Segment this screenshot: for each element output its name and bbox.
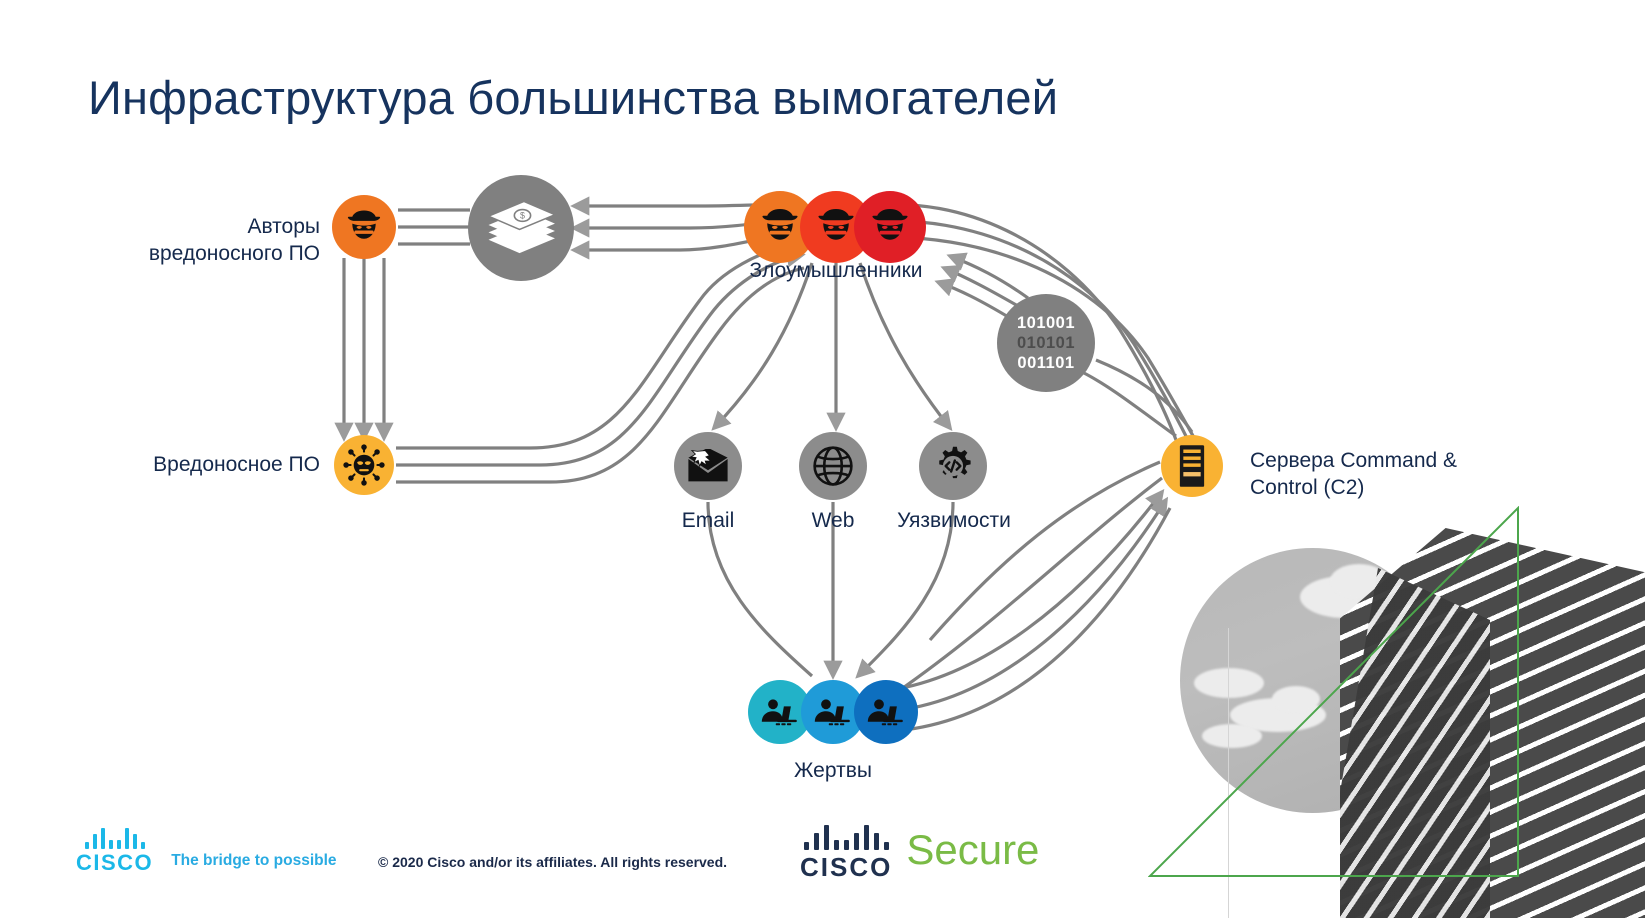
- slide-canvas: Инфраструктура большинства вымогателей: [0, 0, 1645, 918]
- user-at-computer-icon: [759, 696, 801, 728]
- node-label-malware: Вредоносное ПО: [70, 452, 320, 479]
- node-malware[interactable]: [334, 435, 394, 495]
- svg-text:$: $: [520, 210, 525, 220]
- node-attacker-3[interactable]: [854, 191, 926, 263]
- copyright-text: © 2020 Cisco and/or its affiliates. All …: [378, 854, 727, 870]
- cisco-tagline: The bridge to possible: [171, 852, 336, 874]
- binary-row-1: 101001: [1017, 313, 1075, 333]
- cisco-secure-logo: CISCO Secure: [800, 824, 1039, 880]
- node-vulnerabilities[interactable]: [919, 432, 987, 500]
- cisco-bars-mark: CISCO: [76, 825, 153, 874]
- cisco-secure-wordmark: CISCO: [800, 854, 892, 880]
- cisco-bars-icon: [85, 825, 145, 849]
- secure-label: Secure: [906, 829, 1039, 875]
- user-at-computer-icon: [812, 696, 854, 728]
- user-at-computer-icon: [865, 696, 907, 728]
- hacker-icon: [866, 203, 914, 251]
- virus-icon: [342, 443, 386, 487]
- binary-row-3: 001101: [1017, 353, 1074, 373]
- globe-icon: [812, 445, 854, 487]
- node-email[interactable]: [674, 432, 742, 500]
- cisco-bars-icon: [804, 824, 889, 850]
- gear-code-icon: [931, 444, 975, 488]
- node-web[interactable]: [799, 432, 867, 500]
- cisco-logo: CISCO The bridge to possible: [76, 825, 337, 874]
- node-label-c2-servers: Сервера Command & Control (C2): [1250, 448, 1580, 502]
- node-label-vulnerabilities: Уязвимости: [873, 508, 1035, 535]
- node-label-victims: Жертвы: [753, 758, 913, 785]
- node-c2-servers[interactable]: [1161, 435, 1223, 497]
- node-label-attackers: Злоумышленники: [716, 258, 956, 285]
- node-label-malware-authors: Авторы вредоносного ПО: [110, 214, 320, 268]
- money-stack-icon: $: [484, 197, 558, 259]
- node-malware-authors[interactable]: [332, 195, 396, 259]
- hacker-icon: [812, 203, 860, 251]
- cisco-wordmark: CISCO: [76, 852, 153, 874]
- email-icon: [687, 449, 729, 483]
- binary-row-2: 010101: [1017, 333, 1075, 353]
- cisco-secure-bars-mark: CISCO: [800, 824, 892, 880]
- server-rack-icon: [1179, 444, 1205, 488]
- node-encrypted-data[interactable]: 101001 010101 001101: [997, 294, 1095, 392]
- node-victim-3[interactable]: [854, 680, 918, 744]
- node-money[interactable]: $: [468, 175, 574, 281]
- hacker-icon: [342, 205, 386, 249]
- hacker-icon: [756, 203, 804, 251]
